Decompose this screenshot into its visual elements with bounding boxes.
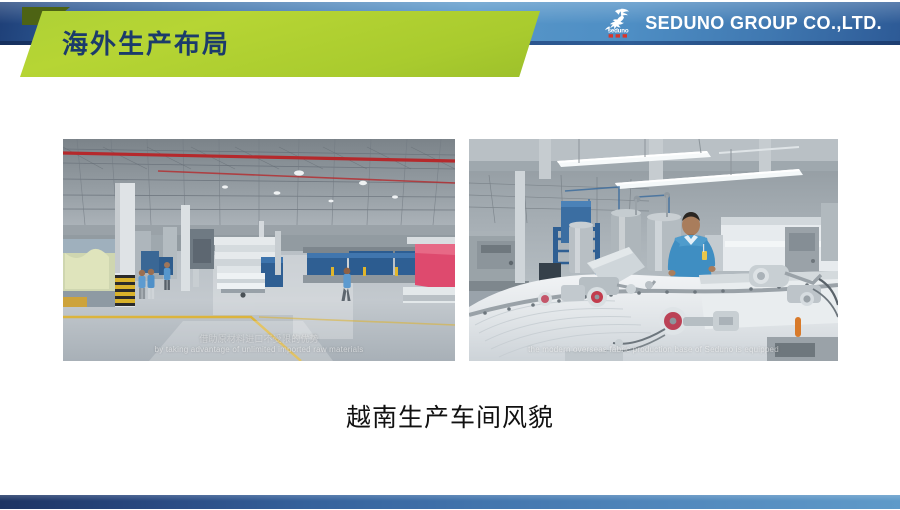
- photo-caption: 越南生产车间风貌: [0, 398, 900, 434]
- page-title: 海外生产布局: [62, 24, 230, 61]
- vietnam-fabric-stenter-line: the modern overseas fabric production ba…: [469, 139, 838, 361]
- slide-header: 海外生产布局 seduno: [0, 0, 900, 90]
- slide: 海外生产布局 seduno: [0, 0, 900, 510]
- footer-bar-gloss: [0, 495, 900, 501]
- vietnam-factory-weaving-hall: 借助原材料进口不受限的优势 by taking advantage of unl…: [63, 139, 455, 361]
- footer-bar: [0, 495, 900, 509]
- company-name: SEDUNO GROUP CO.,LTD.: [645, 13, 882, 34]
- svg-text:seduno: seduno: [608, 28, 629, 35]
- brand-lockup: seduno SEDUNO GROUP CO.,LTD.: [600, 6, 882, 40]
- pegasus-logo-icon: seduno: [600, 7, 636, 39]
